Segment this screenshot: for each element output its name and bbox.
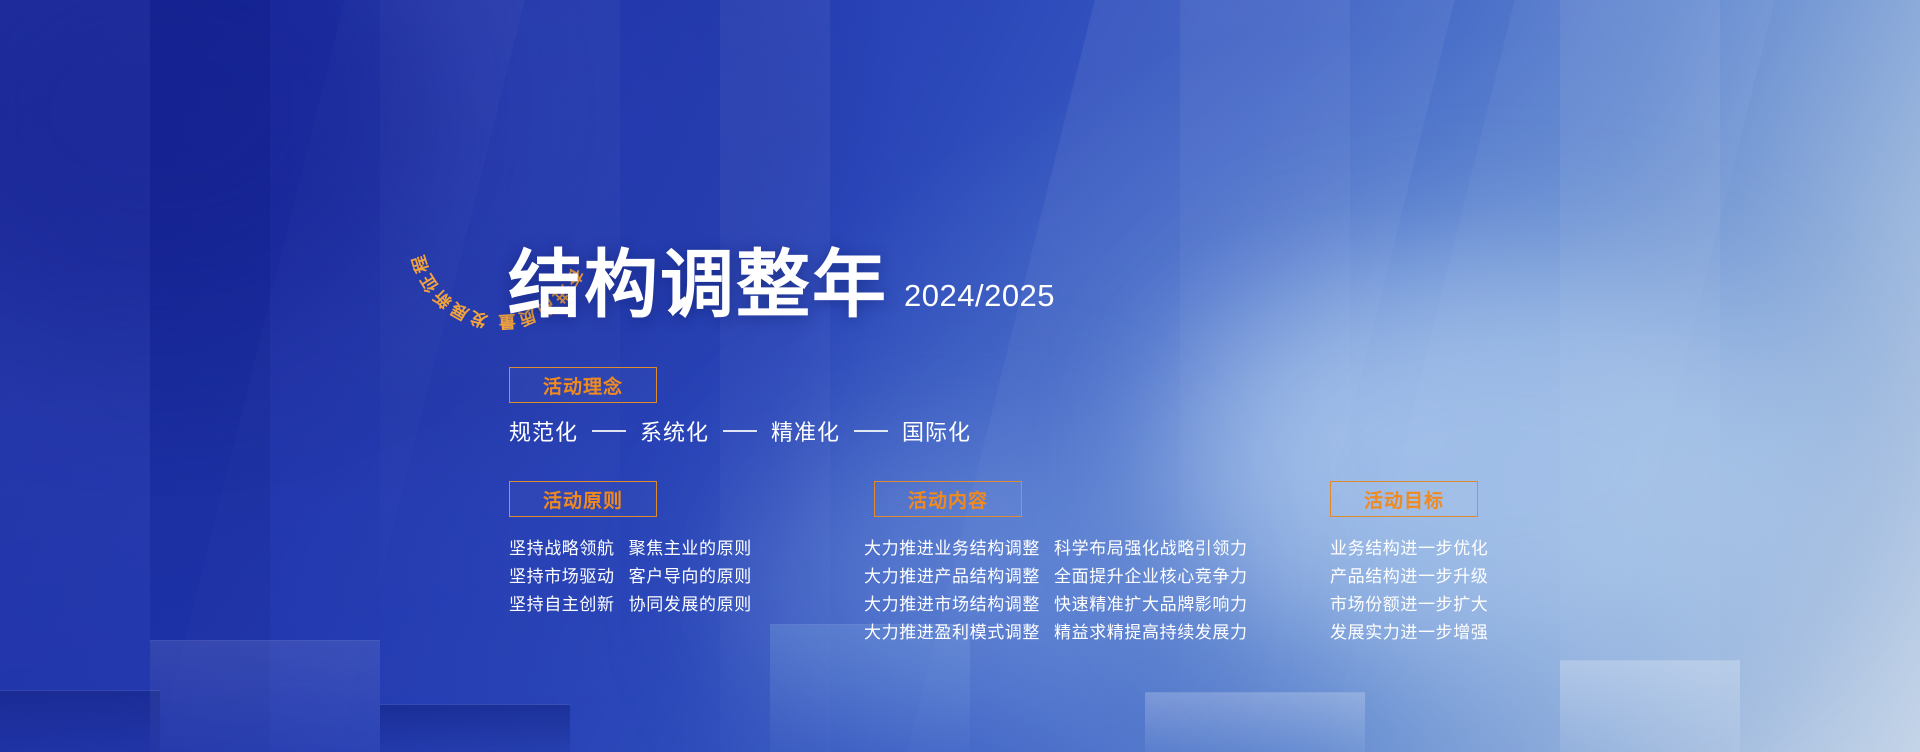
badge-activity-concept[interactable]: 活动理念 [509,367,657,403]
content-right-3: 精益求精提高持续发展力 [1054,619,1248,647]
concept-item-1: 系统化 [640,415,709,447]
concept-item-2: 精准化 [771,415,840,447]
badge-activity-goals[interactable]: 活动目标 [1330,481,1478,517]
concept-divider-icon [723,430,757,432]
list-item: 坚持市场驱动 客户导向的原则 [509,563,752,591]
concept-divider-icon [592,430,626,432]
goal-3: 发展实力进一步增强 [1330,619,1488,647]
column-principles: 坚持战略领航 聚焦主业的原则 坚持市场驱动 客户导向的原则 坚持自主创新 协同发… [509,535,752,619]
list-item: 大力推进市场结构调整 快速精准扩大品牌影响力 [864,591,1248,619]
list-item: 大力推进业务结构调整 科学布局强化战略引领力 [864,535,1248,563]
spacer [615,591,629,619]
principle-right-1: 客户导向的原则 [629,563,752,591]
spacer [1040,535,1054,563]
page-title: 结构调整年 [508,248,888,322]
spacer [1040,619,1054,647]
badge-activity-contents[interactable]: 活动内容 [874,481,1022,517]
goal-1: 产品结构进一步升级 [1330,563,1488,591]
concept-divider-icon [854,430,888,432]
badge-activity-principles[interactable]: 活动原则 [509,481,657,517]
column-contents: 大力推进业务结构调整 科学布局强化战略引领力 大力推进产品结构调整 全面提升企业… [864,535,1248,647]
list-item: 坚持战略领航 聚焦主业的原则 [509,535,752,563]
principle-left-0: 坚持战略领航 [509,535,615,563]
spacer [1040,591,1054,619]
content-left-2: 大力推进市场结构调整 [864,591,1040,619]
goal-0: 业务结构进一步优化 [1330,535,1488,563]
list-item: 市场份额进一步扩大 [1330,591,1488,619]
goal-2: 市场份额进一步扩大 [1330,591,1488,619]
content-left-3: 大力推进盈利模式调整 [864,619,1040,647]
concept-items-row: 规范化 系统化 精准化 国际化 [509,415,971,447]
principle-right-0: 聚焦主业的原则 [629,535,752,563]
principle-left-1: 坚持市场驱动 [509,563,615,591]
concept-item-0: 规范化 [509,415,578,447]
spacer [615,563,629,591]
list-item: 业务结构进一步优化 [1330,535,1488,563]
spacer [1040,563,1054,591]
concept-item-3: 国际化 [902,415,971,447]
column-goals: 业务结构进一步优化 产品结构进一步升级 市场份额进一步扩大 发展实力进一步增强 [1330,535,1488,647]
spacer [615,535,629,563]
banner-root: 奋进高质量 发展新征程 赋能创新转型 增动能 结构调整年 2024/2025 活… [0,0,1920,752]
list-item: 坚持自主创新 协同发展的原则 [509,591,752,619]
list-item: 大力推进盈利模式调整 精益求精提高持续发展力 [864,619,1248,647]
content-left-1: 大力推进产品结构调整 [864,563,1040,591]
content-left-0: 大力推进业务结构调整 [864,535,1040,563]
content-right-1: 全面提升企业核心竞争力 [1054,563,1248,591]
principle-right-2: 协同发展的原则 [629,591,752,619]
list-item: 产品结构进一步升级 [1330,563,1488,591]
principle-left-2: 坚持自主创新 [509,591,615,619]
banner-content: 奋进高质量 发展新征程 赋能创新转型 增动能 结构调整年 2024/2025 活… [0,0,1920,752]
year-label: 2024/2025 [904,278,1055,322]
content-right-2: 快速精准扩大品牌影响力 [1054,591,1248,619]
title-row: 结构调整年 2024/2025 [508,248,1055,322]
list-item: 发展实力进一步增强 [1330,619,1488,647]
list-item: 大力推进产品结构调整 全面提升企业核心竞争力 [864,563,1248,591]
content-right-0: 科学布局强化战略引领力 [1054,535,1248,563]
